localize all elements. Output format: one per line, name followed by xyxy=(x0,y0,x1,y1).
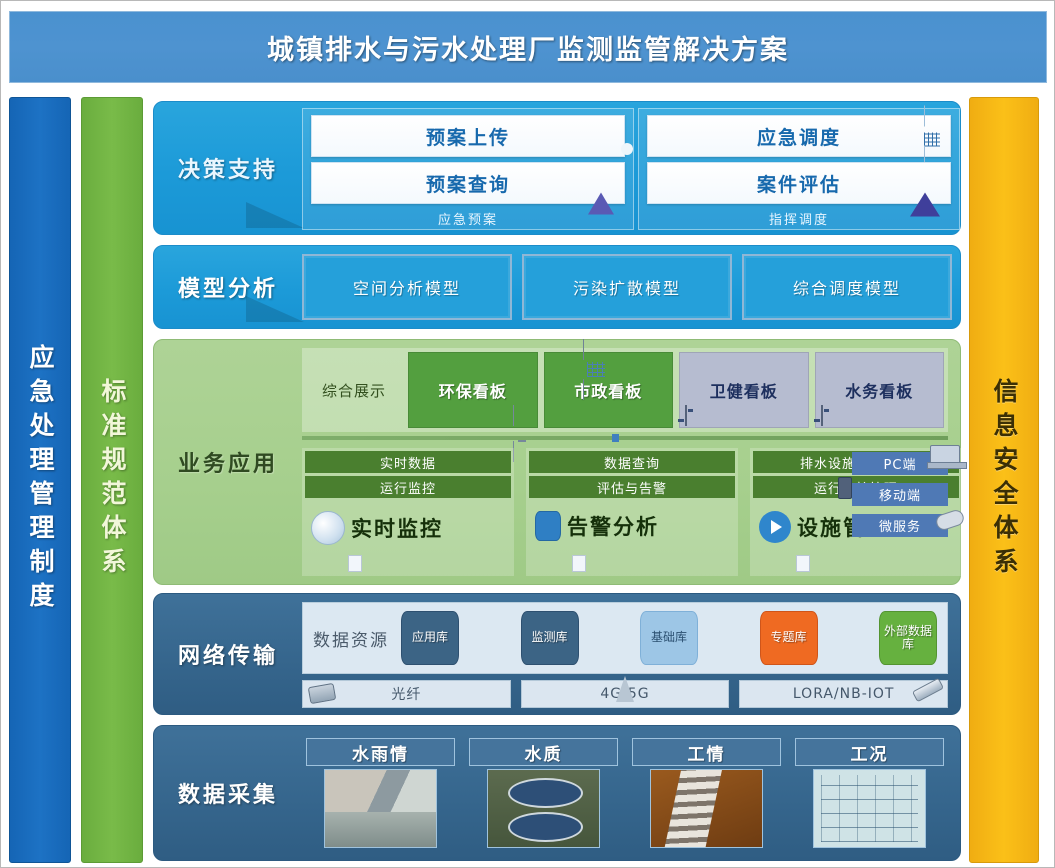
grid-sheet-icon xyxy=(924,107,940,166)
section-decision-support: 决策支持 预案上传 预案查询 应急预案 应急调度 案件评估 指挥调度 xyxy=(153,101,961,235)
radio-icon xyxy=(912,678,944,703)
fiber-icon xyxy=(308,683,337,704)
transport-lora-nbiot[interactable]: LORA/NB-IOT xyxy=(739,680,948,708)
section-model-analysis: 模型分析 空间分析模型 污染扩散模型 综合调度模型 xyxy=(153,245,961,329)
kanban-divider xyxy=(302,436,948,440)
model-box-pollution-diffusion[interactable]: 污染扩散模型 xyxy=(522,254,732,320)
architecture-diagram: 城镇排水与污水处理厂监测监管解决方案 应急处理管理制度 标准规范体系 信息安全体… xyxy=(0,0,1055,868)
network-icon xyxy=(685,406,703,422)
pyramid-icon xyxy=(588,174,614,193)
database-monitoring[interactable]: 监测库 xyxy=(521,611,579,665)
acquisition-item-list: 水雨情 水质 工情 工况 xyxy=(302,734,948,852)
page-title-bar: 城镇排水与污水处理厂监测监管解决方案 xyxy=(9,11,1047,83)
globe-icon xyxy=(311,511,345,545)
transport-fiber[interactable]: 光纤 xyxy=(302,680,511,708)
acquisition-item-hydrology[interactable]: 水雨情 xyxy=(306,738,455,848)
pillar-information-security: 信息安全体系 xyxy=(969,97,1039,863)
decision-card-plan-query[interactable]: 预案查询 xyxy=(311,162,625,204)
pipeline-trench-photo xyxy=(650,769,763,848)
business-bar-data-query[interactable]: 数据查询 xyxy=(529,451,735,473)
document-icon xyxy=(796,555,810,572)
business-feature-realtime-monitoring[interactable]: 实时监控 xyxy=(305,501,511,545)
pillar-standard-system: 标准规范体系 xyxy=(81,97,143,863)
section-label-data-acquisition: 数据采集 xyxy=(154,726,302,860)
decision-card-case-assessment[interactable]: 案件评估 xyxy=(647,162,951,204)
kanban-health[interactable]: 卫健看板 xyxy=(679,352,809,428)
section-label-model-analysis: 模型分析 xyxy=(154,246,302,328)
device-chip-microservice[interactable]: 微服务 xyxy=(852,514,948,537)
acquisition-item-conditions[interactable]: 工况 xyxy=(795,738,944,848)
data-resource-caption: 数据资源 xyxy=(313,626,389,651)
data-resource-row: 数据资源 应用库 监测库 基础库 专题库 外部数据库 xyxy=(302,602,948,674)
document-icon xyxy=(572,555,586,572)
section-data-acquisition: 数据采集 水雨情 水质 工情 工况 xyxy=(153,725,961,861)
business-column-alarm: 数据查询 评估与告警 告警分析 xyxy=(526,448,738,576)
device-chip-mobile[interactable]: 移动端 xyxy=(852,483,948,506)
business-column-realtime: 实时数据 运行监控 实时监控 xyxy=(302,448,514,576)
river-channel-photo xyxy=(324,769,437,848)
decision-group-emergency-plan: 预案上传 预案查询 应急预案 xyxy=(302,108,634,230)
kanban-environment[interactable]: 环保看板 xyxy=(408,352,538,428)
page-title: 城镇排水与污水处理厂监测监管解决方案 xyxy=(267,28,789,67)
database-icon xyxy=(535,511,561,541)
device-chip-pc[interactable]: PC端 xyxy=(852,452,948,475)
acquisition-item-works[interactable]: 工情 xyxy=(632,738,781,848)
kanban-water-affairs[interactable]: 水务看板 xyxy=(815,352,945,428)
transport-4g5g[interactable]: 4G/5G xyxy=(521,680,730,708)
phone-icon xyxy=(838,477,852,499)
business-bar-operation-monitor[interactable]: 运行监控 xyxy=(305,476,511,498)
diamond-pyramid-icon xyxy=(910,174,940,193)
monitor-icon xyxy=(513,406,531,422)
kanban-row: 综合展示 环保看板 市政看板 卫健看板 水务看板 xyxy=(302,348,948,432)
label-notch xyxy=(246,296,304,322)
network-icon xyxy=(821,406,839,422)
section-label-business-application: 业务应用 xyxy=(154,340,302,584)
model-box-list: 空间分析模型 污染扩散模型 综合调度模型 xyxy=(302,254,952,320)
play-icon xyxy=(759,511,791,543)
transport-row: 光纤 4G/5G LORA/NB-IOT xyxy=(302,680,948,708)
decision-card-plan-upload[interactable]: 预案上传 xyxy=(311,115,625,157)
label-notch xyxy=(246,202,304,228)
section-label-network-transport: 网络传输 xyxy=(154,594,302,714)
decision-group-caption-command-dispatch: 指挥调度 xyxy=(647,209,951,228)
business-bar-realtime-data[interactable]: 实时数据 xyxy=(305,451,511,473)
pillar-emergency-management: 应急处理管理制度 xyxy=(9,97,71,863)
database-foundation[interactable]: 基础库 xyxy=(640,611,698,665)
model-box-integrated-dispatch[interactable]: 综合调度模型 xyxy=(742,254,952,320)
document-icon xyxy=(348,555,362,572)
section-business-application: 业务应用 综合展示 环保看板 市政看板 卫健看板 水务看板 xyxy=(153,339,961,585)
treatment-plant-photo xyxy=(487,769,600,848)
decision-card-emergency-dispatch[interactable]: 应急调度 xyxy=(647,115,951,157)
database-external[interactable]: 外部数据库 xyxy=(879,611,937,665)
acquisition-item-water-quality[interactable]: 水质 xyxy=(469,738,618,848)
spreadsheet-icon xyxy=(583,340,609,364)
device-chip-list: PC端 移动端 微服务 xyxy=(852,452,948,545)
scada-diagram-photo xyxy=(813,769,926,848)
business-bar-assessment-alarm[interactable]: 评估与告警 xyxy=(529,476,735,498)
section-network-transport: 网络传输 数据资源 应用库 监测库 基础库 专题库 外部数据库 光纤 4G/5G xyxy=(153,593,961,715)
kanban-municipal[interactable]: 市政看板 xyxy=(544,352,674,428)
model-box-spatial[interactable]: 空间分析模型 xyxy=(302,254,512,320)
laptop-icon xyxy=(930,445,960,465)
business-feature-alarm-analysis[interactable]: 告警分析 xyxy=(529,501,735,541)
database-thematic[interactable]: 专题库 xyxy=(760,611,818,665)
decision-group-caption-emergency-plan: 应急预案 xyxy=(311,209,625,228)
tower-icon xyxy=(616,676,634,702)
section-label-decision-support: 决策支持 xyxy=(154,102,302,234)
decision-group-command-dispatch: 应急调度 案件评估 指挥调度 xyxy=(638,108,960,230)
kanban-row-caption: 综合展示 xyxy=(306,352,402,428)
database-application[interactable]: 应用库 xyxy=(401,611,459,665)
